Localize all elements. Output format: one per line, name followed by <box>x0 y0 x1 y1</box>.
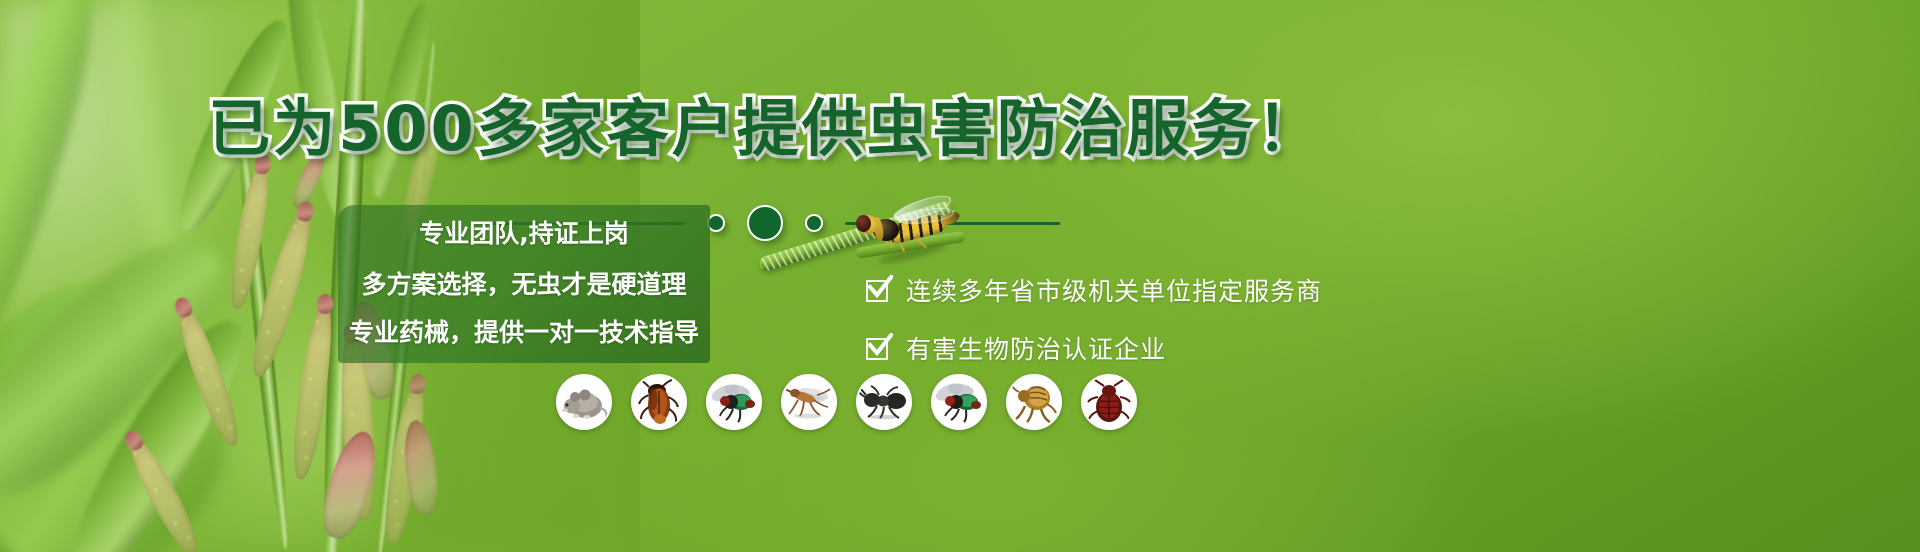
bedbug-icon <box>1083 376 1135 428</box>
feature-highlight-panel: 专业团队,持证上岗 多方案选择，无虫才是硬道理 专业药械，提供一对一技术指导 <box>338 205 710 363</box>
pest-icon-fly[interactable] <box>706 374 762 430</box>
checkbox-checked-icon <box>866 335 892 361</box>
page-title-text: 已为500多家客户提供虫害防治服务！ <box>208 92 1321 165</box>
blowfly-icon <box>933 376 985 428</box>
flea-icon <box>1008 376 1060 428</box>
hoverfly-icon <box>856 201 960 251</box>
list-item-label: 连续多年省市级机关单位指定服务商 <box>906 272 1322 308</box>
pest-type-list <box>556 374 1137 430</box>
feature-line-3: 专业药械，提供一对一技术指导 <box>338 307 710 355</box>
list-item: 连续多年省市级机关单位指定服务商 <box>866 272 1322 308</box>
pest-icon-blowfly[interactable] <box>931 374 987 430</box>
pest-icon-bedbug[interactable] <box>1081 374 1137 430</box>
list-item: 有害生物防治认证企业 <box>866 330 1322 366</box>
pest-icon-mouse[interactable] <box>556 374 612 430</box>
credential-list: 连续多年省市级机关单位指定服务商 有害生物防治认证企业 <box>866 272 1322 366</box>
mouse-icon <box>558 376 610 428</box>
hero-banner: 已为500多家客户提供虫害防治服务！ 专业团队,持证上岗 多方案选择，无虫才是硬… <box>0 0 1920 552</box>
feature-line-2: 多方案选择，无虫才是硬道理 <box>338 259 710 307</box>
ant-icon <box>858 376 910 428</box>
pest-icon-cockroach[interactable] <box>631 374 687 430</box>
list-item-label: 有害生物防治认证企业 <box>906 330 1166 366</box>
checkbox-checked-icon <box>866 277 892 303</box>
feature-line-1: 专业团队,持证上岗 <box>338 209 710 259</box>
page-title: 已为500多家客户提供虫害防治服务！ <box>0 78 1530 168</box>
fly-icon <box>708 376 760 428</box>
pest-icon-mosquito[interactable] <box>781 374 837 430</box>
mosquito-icon <box>783 376 835 428</box>
cockroach-icon <box>633 376 685 428</box>
pest-icon-ant[interactable] <box>856 374 912 430</box>
pest-icon-flea[interactable] <box>1006 374 1062 430</box>
